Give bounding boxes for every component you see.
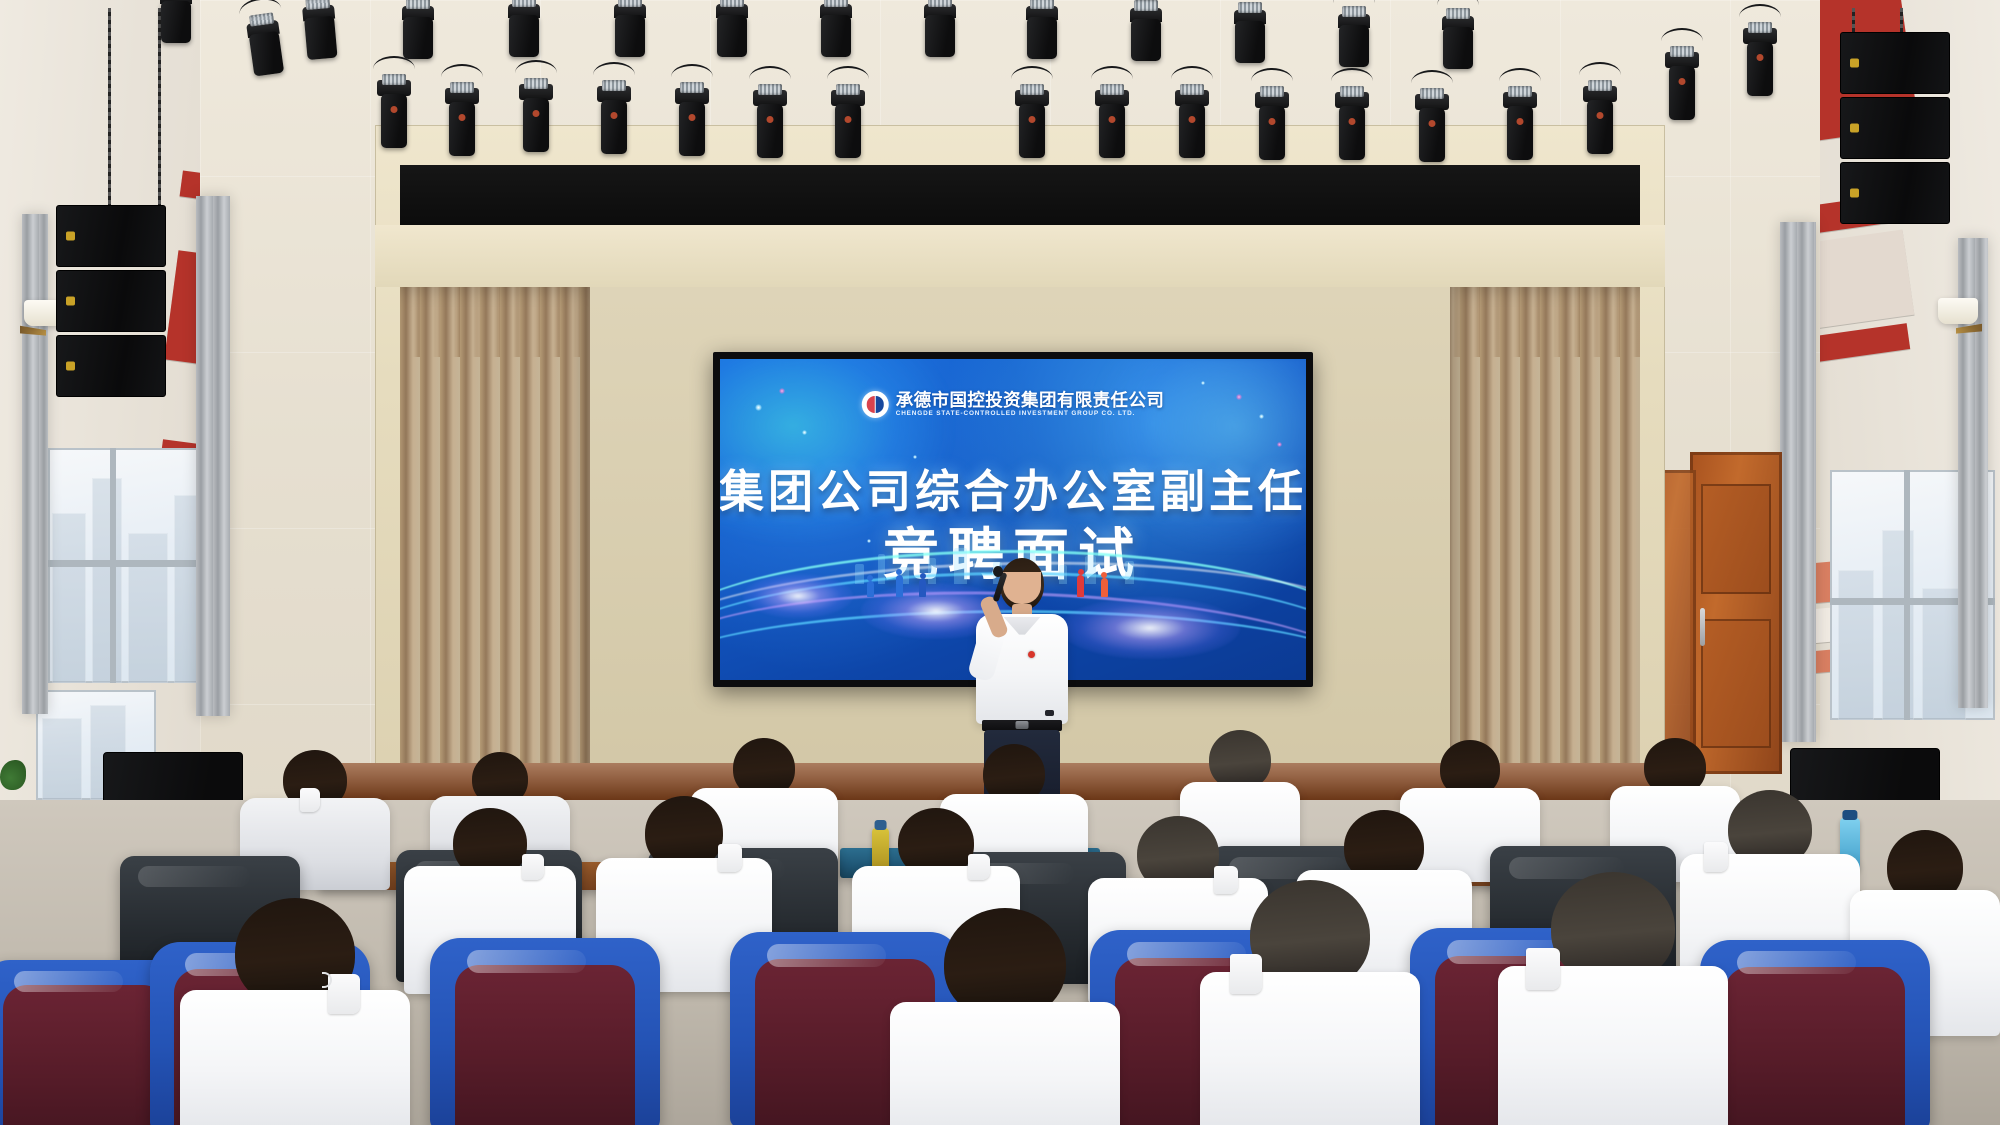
- stage-curtain-left: [400, 287, 600, 807]
- figure-icon: [867, 581, 874, 597]
- auditorium-chair[interactable]: [1700, 940, 1930, 1125]
- face-mask: [1526, 948, 1560, 990]
- speaker-cabinet: [1840, 162, 1950, 224]
- company-name-en: CHENGDE STATE-CONTROLLED INVESTMENT GROU…: [896, 411, 1165, 418]
- face-mask: [522, 854, 544, 880]
- window-mullion: [1904, 470, 1910, 720]
- screen-sparkle: [802, 430, 807, 435]
- window-drape-left: [196, 196, 230, 716]
- figure-icon: [919, 579, 926, 597]
- lapel-pin: [1028, 651, 1035, 658]
- speaker-cabinet: [1840, 32, 1950, 94]
- face-mask: [968, 854, 990, 880]
- window-mullion: [110, 448, 116, 683]
- window-drape-left-outer: [22, 214, 48, 714]
- face-mask: [718, 844, 742, 872]
- face-mask: [1704, 842, 1728, 872]
- door-panel: [1701, 484, 1771, 593]
- door-panel: [1701, 619, 1771, 748]
- potted-plant: [0, 760, 26, 790]
- face-mask: [328, 974, 360, 1014]
- speaker-cabinet: [56, 205, 166, 267]
- screen-sparkle: [779, 388, 785, 394]
- speaker-chain: [108, 8, 111, 208]
- microphone-head: [993, 566, 1003, 577]
- light-burst: [1060, 597, 1240, 659]
- proscenium-black-band: [400, 165, 1640, 225]
- audience-member-foreground: [1200, 880, 1420, 1125]
- wall-sconce-shade: [1938, 298, 1978, 324]
- face-mask: [300, 788, 320, 812]
- screen-sparkle: [1259, 414, 1264, 419]
- wristwatch: [1045, 710, 1054, 716]
- auditorium-chair[interactable]: [430, 938, 660, 1125]
- stage-curtain-right: [1440, 287, 1640, 807]
- company-emblem-icon: [862, 391, 889, 418]
- audience-member-foreground: [1498, 872, 1728, 1125]
- window-drape-right: [1780, 222, 1816, 742]
- light-burst: [743, 574, 853, 618]
- audience-torso: [1200, 972, 1420, 1125]
- line-array-speaker-left: [56, 205, 166, 397]
- audience-torso: [180, 990, 410, 1125]
- figure-icon: [896, 575, 903, 597]
- belt-buckle: [1016, 721, 1029, 729]
- audience-head: [1209, 730, 1271, 790]
- screen-sparkle: [1236, 394, 1242, 400]
- screenshot-root: 承德市国控投资集团有限责任公司 CHENGDE STATE-CONTROLLED…: [0, 0, 2000, 1125]
- figure-icon: [1101, 578, 1108, 597]
- door-handle[interactable]: [1700, 608, 1705, 646]
- audience-member-foreground: [180, 898, 410, 1125]
- line-array-speaker-right: [1840, 32, 1950, 224]
- company-logo: 承德市国控投资集团有限责任公司 CHENGDE STATE-CONTROLLED…: [862, 391, 1165, 418]
- speaker-cabinet: [56, 335, 166, 397]
- face-mask: [1230, 954, 1262, 994]
- proscenium-lip: [375, 225, 1665, 287]
- audience-torso: [890, 1002, 1120, 1125]
- audience-member-foreground: [890, 908, 1120, 1125]
- shirt-collar: [1004, 617, 1041, 635]
- speaker-cabinet: [1840, 97, 1950, 159]
- speaker-cabinet: [56, 270, 166, 332]
- company-name-cn: 承德市国控投资集团有限责任公司: [896, 391, 1165, 409]
